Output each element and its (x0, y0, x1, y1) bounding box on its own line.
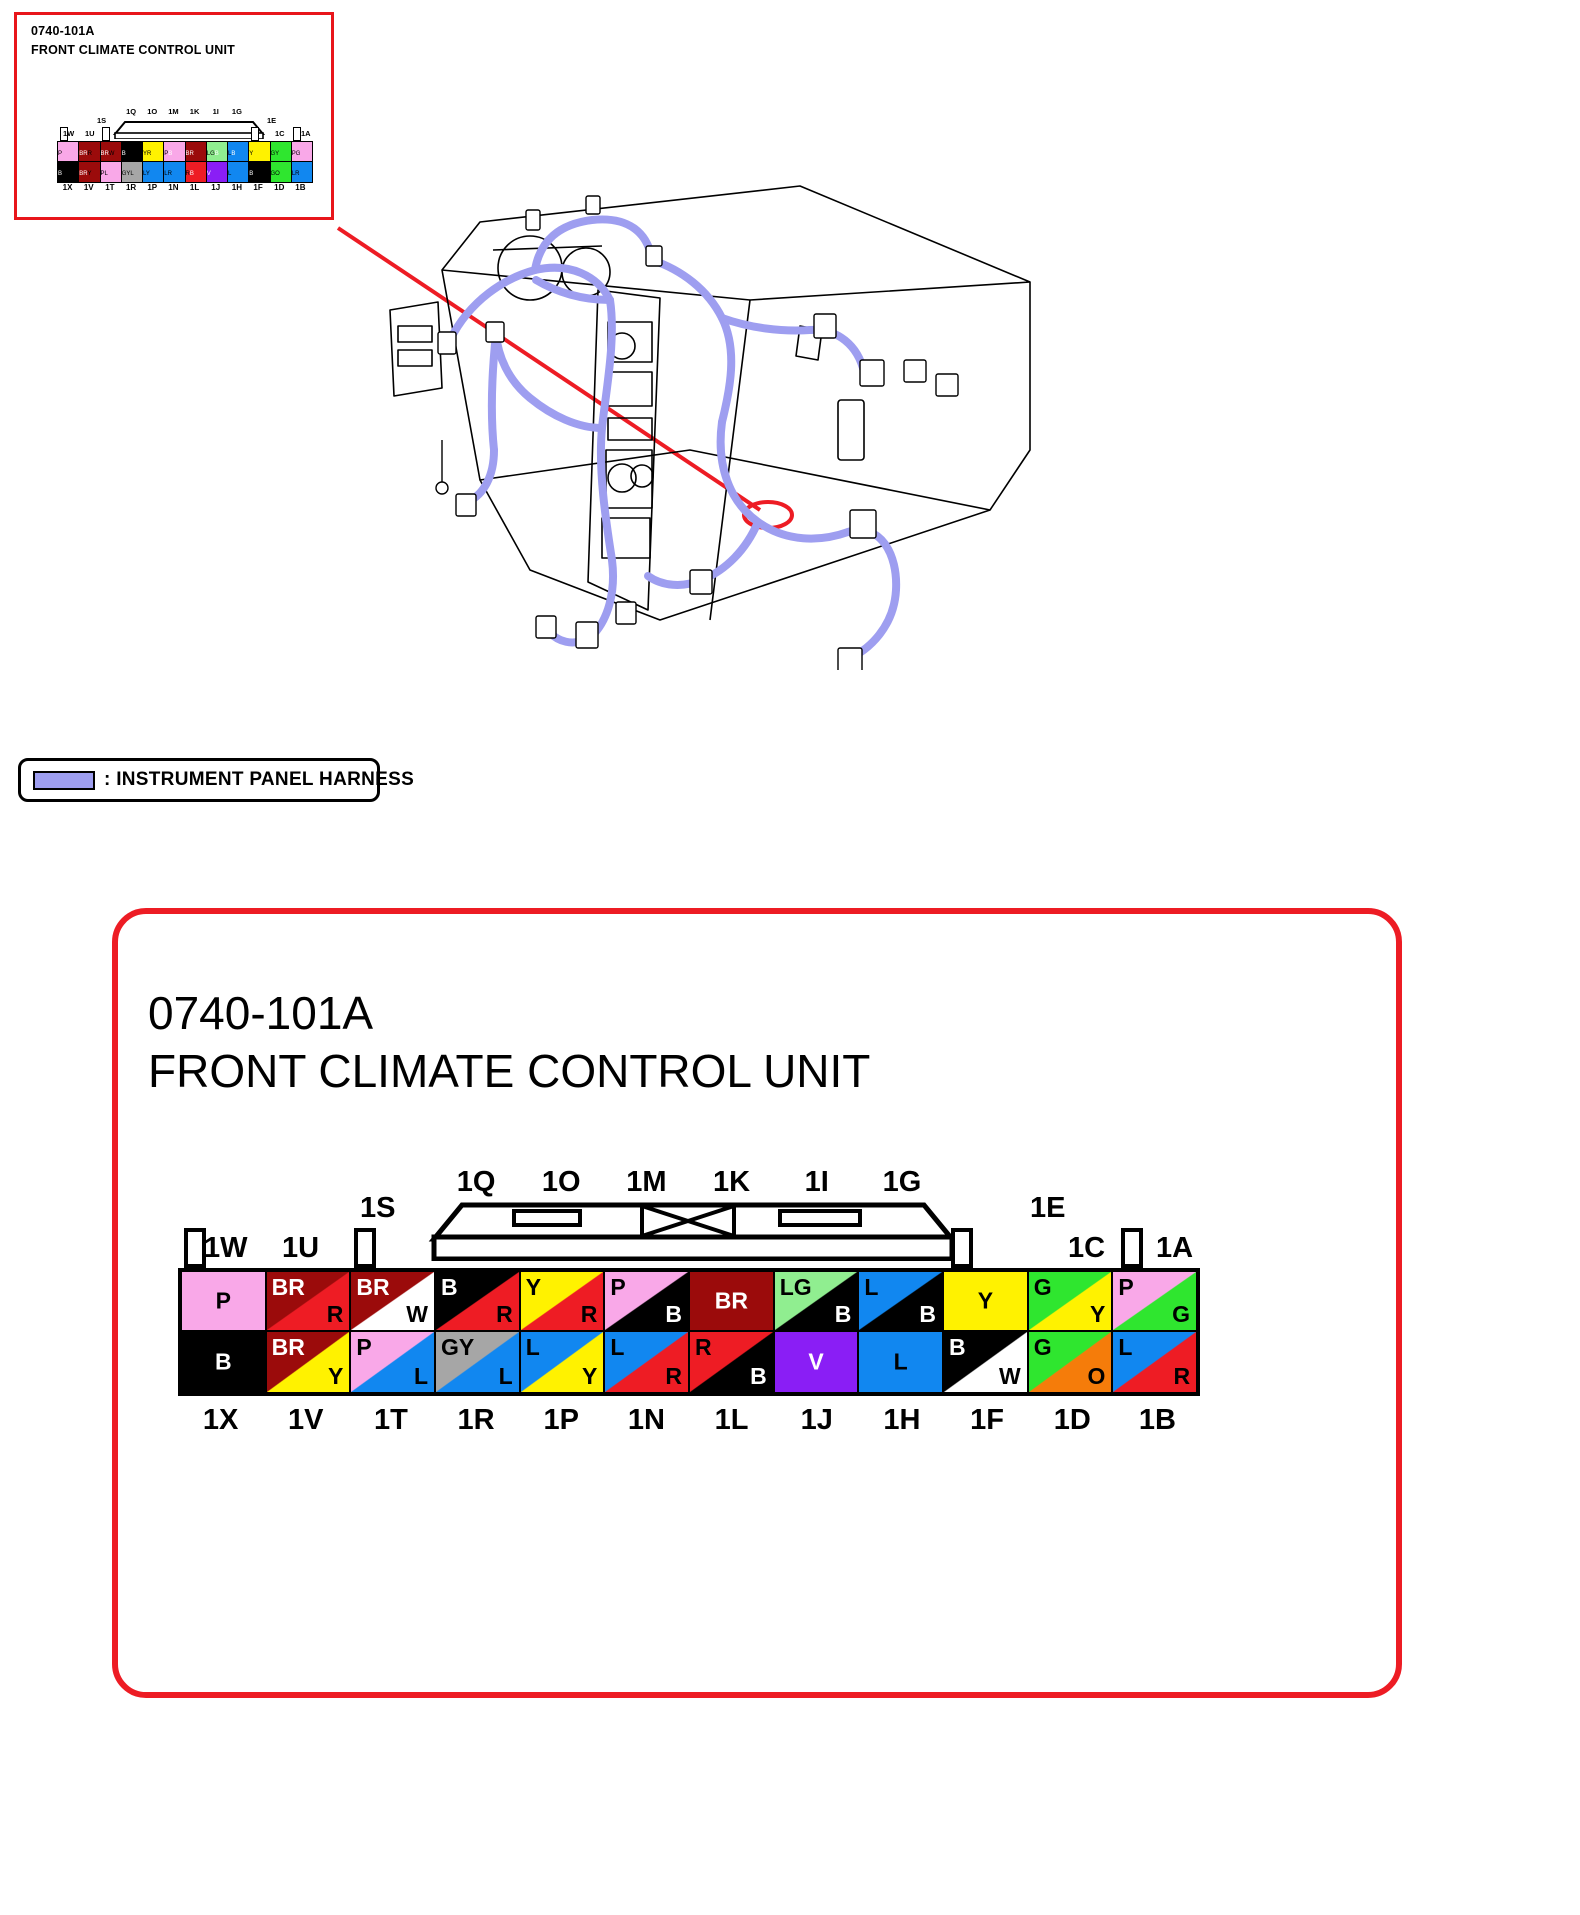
pin-color-code-primary: B (441, 1276, 458, 1299)
pin-cell-1R: GYL (122, 162, 143, 182)
inset-pin-label-1W: 1W (63, 129, 74, 138)
pin-cell-1G: LB (228, 142, 249, 162)
pin-color-code-secondary: L (499, 1365, 513, 1388)
inset-pin-grid: PBRRBRWBRYRPBBRLGBLBYGYPGBBRYPLGYLLYLRRB… (57, 141, 313, 183)
pin-grid: PBRRBRWBRYRPBBRLGBLBYGYPGBBRYPLGYLLYLRRB… (178, 1268, 1200, 1396)
pin-cell-1L: RB (186, 162, 207, 182)
inset-pin-label-1K: 1K (190, 107, 200, 116)
inset-connector-latch-tab (251, 127, 259, 141)
pin-color-code-secondary: R (581, 1303, 598, 1326)
pin-color-code-primary: L (610, 1336, 624, 1359)
inset-pin-label-1P: 1P (147, 183, 157, 192)
pin-cell-1W: P (182, 1272, 267, 1332)
pin-color-code-primary: L (894, 1351, 908, 1374)
pin-color-code-secondary: B (231, 151, 235, 157)
pin-color-code-secondary: Y (146, 171, 150, 177)
pin-color-code-primary: V (808, 1351, 823, 1374)
pin-cell-1S: BRW (101, 142, 122, 162)
pin-cell-1T: PL (351, 1332, 436, 1392)
pin-cell-1D: GO (1029, 1332, 1114, 1392)
inset-pin-label-1O: 1O (147, 107, 157, 116)
connector-latch-tab (951, 1228, 973, 1268)
inset-pin-label-1X: 1X (63, 183, 73, 192)
pin-color-code-secondary: B (665, 1303, 682, 1326)
pin-cell-1A: PG (292, 142, 312, 162)
pin-label-1R: 1R (458, 1404, 495, 1437)
connector-bottom-labels: 1X1V1T1R1P1N1L1J1H1F1D1B (178, 1404, 1200, 1440)
pin-cell-1X: B (58, 162, 79, 182)
pin-label-1F: 1F (970, 1404, 1004, 1437)
pin-color-code-secondary: B (190, 171, 194, 177)
pin-color-code-secondary: R (665, 1365, 682, 1388)
pin-color-code-secondary: R (168, 171, 172, 177)
pin-color-code-primary: BR (272, 1276, 305, 1299)
connector-latch-tab (184, 1228, 206, 1268)
pin-label-1G: 1G (883, 1166, 922, 1199)
pin-cell-1T: PL (101, 162, 122, 182)
inset-pin-label-1U: 1U (85, 129, 95, 138)
pin-cell-1N: LR (164, 162, 185, 182)
pin-cell-1H: L (228, 162, 249, 182)
pin-color-code-primary: GY (441, 1336, 474, 1359)
pin-color-code-secondary: W (253, 171, 259, 177)
pin-row: PBRRBRWBRYRPBBRLGBLBYGYPG (182, 1272, 1196, 1332)
pin-color-code-secondary: Y (1090, 1303, 1105, 1326)
inset-name: FRONT CLIMATE CONTROL UNIT (31, 43, 235, 57)
pin-label-1D: 1D (1054, 1404, 1091, 1437)
pin-color-code-secondary: G (1172, 1303, 1190, 1326)
pin-color-code-primary: Y (249, 151, 253, 157)
pin-cell-1B: LR (292, 162, 312, 182)
pin-cell-1P: LY (143, 162, 164, 182)
pin-cell-1M: PB (605, 1272, 690, 1332)
pin-cell-1F: BW (249, 162, 270, 182)
inset-pin-label-1J: 1J (211, 183, 220, 192)
pin-color-code-primary: P (58, 151, 62, 157)
pin-row: BBRYPLGYLLYLRRBVLBWGOLR (182, 1332, 1196, 1392)
pin-label-1A: 1A (1156, 1232, 1193, 1265)
pin-color-code-primary: P (610, 1276, 625, 1299)
pin-cell-1K: BR (690, 1272, 775, 1332)
pin-cell-1J: V (775, 1332, 860, 1392)
pin-label-1H: 1H (883, 1404, 920, 1437)
inset-pin-row: BBRYPLGYLLYLRRBVLBWGOLR (58, 162, 312, 182)
pin-color-code-secondary: B (835, 1303, 852, 1326)
pin-cell-1P: LY (521, 1332, 606, 1392)
pin-label-1S: 1S (360, 1192, 395, 1225)
pin-cell-1E: Y (249, 142, 270, 162)
pin-cell-1U: BRR (267, 1272, 352, 1332)
pin-cell-1H: L (859, 1332, 944, 1392)
inset-code: 0740-101A (31, 24, 95, 38)
pin-color-code-secondary: B (919, 1303, 936, 1326)
inset-pin-label-1N: 1N (168, 183, 178, 192)
pin-label-1P: 1P (544, 1404, 579, 1437)
pin-cell-1C: GY (271, 142, 292, 162)
pin-color-code-primary: BR (356, 1276, 389, 1299)
pin-color-code-primary: BR (186, 151, 194, 157)
pin-color-code-primary: R (695, 1336, 712, 1359)
inset-connector-latch-tab (102, 127, 110, 141)
pin-label-1I: 1I (805, 1166, 829, 1199)
inset-pin-label-1E: 1E (267, 116, 276, 125)
legend-label: : INSTRUMENT PANEL HARNESS (104, 769, 414, 791)
pin-label-1T: 1T (374, 1404, 408, 1437)
pin-color-code-secondary: G (296, 151, 301, 157)
detail-panel: 0740-101A FRONT CLIMATE CONTROL UNIT 1Q1… (112, 908, 1402, 1698)
inset-pin-row: PBRRBRWBRYRPBBRLGBLBYGYPG (58, 142, 312, 162)
pin-color-code-primary: G (1034, 1336, 1052, 1359)
inset-top-labels: 1Q1O1M1K1I1G (39, 107, 329, 119)
pin-color-code-primary: L (228, 171, 231, 177)
pin-label-1Q: 1Q (457, 1166, 496, 1199)
inset-connector-tabs (39, 127, 329, 141)
pin-label-1N: 1N (628, 1404, 665, 1437)
pin-color-code-secondary: Y (328, 1365, 343, 1388)
inset-pin-label-1H: 1H (232, 183, 242, 192)
connector-diagram: 1Q1O1M1K1I1G 1W1U1S1E1C1A PBRRBRWBRYRPBB… (170, 1166, 1210, 1466)
pin-cell-1Q: BR (122, 142, 143, 162)
inset-pin-label-1I: 1I (213, 107, 219, 116)
inset-pin-label-1T: 1T (105, 183, 114, 192)
pin-cell-1V: BRY (267, 1332, 352, 1392)
inset-pin-label-1Q: 1Q (126, 107, 136, 116)
pin-color-code-secondary: L (105, 171, 108, 177)
pin-color-code-primary: BR (79, 151, 87, 157)
pin-color-code-secondary: L (130, 171, 133, 177)
inset-pin-label-1B: 1B (295, 183, 305, 192)
pin-cell-1I: LGB (775, 1272, 860, 1332)
pin-label-1C: 1C (1068, 1232, 1105, 1265)
pin-label-1E: 1E (1030, 1192, 1065, 1225)
pin-color-code-secondary: L (414, 1365, 428, 1388)
pin-color-code-primary: P (356, 1336, 371, 1359)
pin-cell-1S: BRW (351, 1272, 436, 1332)
pin-color-code-secondary: Y (275, 151, 279, 157)
connector-tabs (170, 1228, 1210, 1268)
pin-cell-1E: Y (944, 1272, 1029, 1332)
pin-cell-1K: BR (186, 142, 207, 162)
pin-label-1J: 1J (801, 1404, 833, 1437)
pin-color-code-primary: P (1118, 1276, 1133, 1299)
pin-cell-1C: GY (1029, 1272, 1114, 1332)
pin-label-1O: 1O (542, 1166, 581, 1199)
pin-color-code-primary: L (1118, 1336, 1132, 1359)
pin-color-code-secondary: R (295, 171, 299, 177)
inset-pin-label-1G: 1G (232, 107, 242, 116)
pin-cell-1B: LR (1113, 1332, 1196, 1392)
dashboard-harness-illustration (330, 150, 1050, 670)
pin-color-code-primary: L (526, 1336, 540, 1359)
pin-color-code-secondary: R (1173, 1365, 1190, 1388)
legend-box: : INSTRUMENT PANEL HARNESS (18, 758, 380, 802)
pin-cell-1J: V (207, 162, 228, 182)
pin-color-code-primary: BR (715, 1290, 748, 1313)
pin-cell-1I: LGB (207, 142, 228, 162)
pin-color-code-primary: L (864, 1276, 878, 1299)
pin-cell-1O: YR (521, 1272, 606, 1332)
pin-cell-1U: BRR (79, 142, 100, 162)
inset-bottom-labels: 1X1V1T1R1P1N1L1J1H1F1D1B (57, 183, 311, 195)
inset-connector-diagram: 1Q1O1M1K1I1G 1W1U1S1E1C1A PBRRBRWBRYRPBB… (39, 107, 329, 207)
inset-pin-label-1F: 1F (253, 183, 262, 192)
pin-color-code-secondary: R (327, 1303, 344, 1326)
inset-pin-label-1M: 1M (168, 107, 178, 116)
pin-color-code-secondary: W (406, 1303, 428, 1326)
pin-color-code-primary: B (215, 1351, 232, 1374)
pin-color-code-secondary: R (126, 151, 130, 157)
pin-color-code-secondary: B (215, 151, 219, 157)
connector-latch-tab (354, 1228, 376, 1268)
pin-cell-1G: LB (859, 1272, 944, 1332)
pin-label-1M: 1M (626, 1166, 666, 1199)
pin-cell-1Q: BR (436, 1272, 521, 1332)
inset-callout-box: 0740-101A FRONT CLIMATE CONTROL UNIT 1Q1… (14, 12, 334, 220)
pin-color-code-secondary: Y (87, 171, 91, 177)
pin-cell-1F: BW (944, 1332, 1029, 1392)
pin-color-code-primary: P (216, 1290, 231, 1313)
pin-label-1X: 1X (203, 1404, 238, 1437)
pin-color-code-secondary: R (147, 151, 151, 157)
pin-color-code-secondary: W (109, 151, 115, 157)
inset-pin-label-1C: 1C (275, 129, 285, 138)
pin-color-code-secondary: R (496, 1303, 513, 1326)
pin-color-code-primary: Y (526, 1276, 541, 1299)
inset-pin-label-1D: 1D (274, 183, 284, 192)
pin-color-code-primary: BR (101, 151, 109, 157)
pin-color-code-primary: LG (207, 151, 215, 157)
inset-pin-label-1R: 1R (126, 183, 136, 192)
pin-cell-1N: LR (605, 1332, 690, 1392)
pin-color-code-secondary: B (750, 1365, 767, 1388)
pin-cell-1A: PG (1113, 1272, 1196, 1332)
pin-color-code-secondary: Y (582, 1365, 597, 1388)
pin-color-code-secondary: R (88, 151, 92, 157)
pin-cell-1L: RB (690, 1332, 775, 1392)
pin-color-code-primary: BR (272, 1336, 305, 1359)
harness-color-swatch (33, 771, 95, 790)
pin-cell-1X: B (182, 1332, 267, 1392)
pin-color-code-secondary: O (275, 171, 280, 177)
pin-label-1U: 1U (282, 1232, 319, 1265)
inset-pin-label-1L: 1L (190, 183, 199, 192)
inset-pin-label-1S: 1S (97, 116, 106, 125)
pin-color-code-secondary: W (999, 1365, 1021, 1388)
pin-color-code-secondary: B (168, 151, 172, 157)
pin-label-1K: 1K (713, 1166, 750, 1199)
pin-color-code-primary: LG (780, 1276, 812, 1299)
pin-color-code-primary: Y (978, 1290, 993, 1313)
pin-color-code-primary: B (58, 171, 62, 177)
pin-cell-1R: GYL (436, 1332, 521, 1392)
pin-label-1B: 1B (1139, 1404, 1176, 1437)
pin-color-code-secondary: O (1088, 1365, 1106, 1388)
inset-connector-latch-tab (293, 127, 301, 141)
pin-cell-1V: BRY (79, 162, 100, 182)
detail-name: FRONT CLIMATE CONTROL UNIT (148, 1044, 870, 1098)
pin-label-1V: 1V (288, 1404, 323, 1437)
pin-color-code-primary: B (949, 1336, 966, 1359)
pin-cell-1O: YR (143, 142, 164, 162)
detail-code: 0740-101A (148, 986, 373, 1040)
pin-label-1L: 1L (715, 1404, 749, 1437)
pin-color-code-primary: G (1034, 1276, 1052, 1299)
pin-cell-1M: PB (164, 142, 185, 162)
pin-color-code-primary: V (207, 171, 211, 177)
inset-pin-label-1A: 1A (301, 129, 311, 138)
pin-cell-1D: GO (271, 162, 292, 182)
pin-label-1W: 1W (204, 1232, 248, 1265)
connector-latch-tab (1121, 1228, 1143, 1268)
pin-cell-1W: P (58, 142, 79, 162)
inset-pin-label-1V: 1V (84, 183, 94, 192)
